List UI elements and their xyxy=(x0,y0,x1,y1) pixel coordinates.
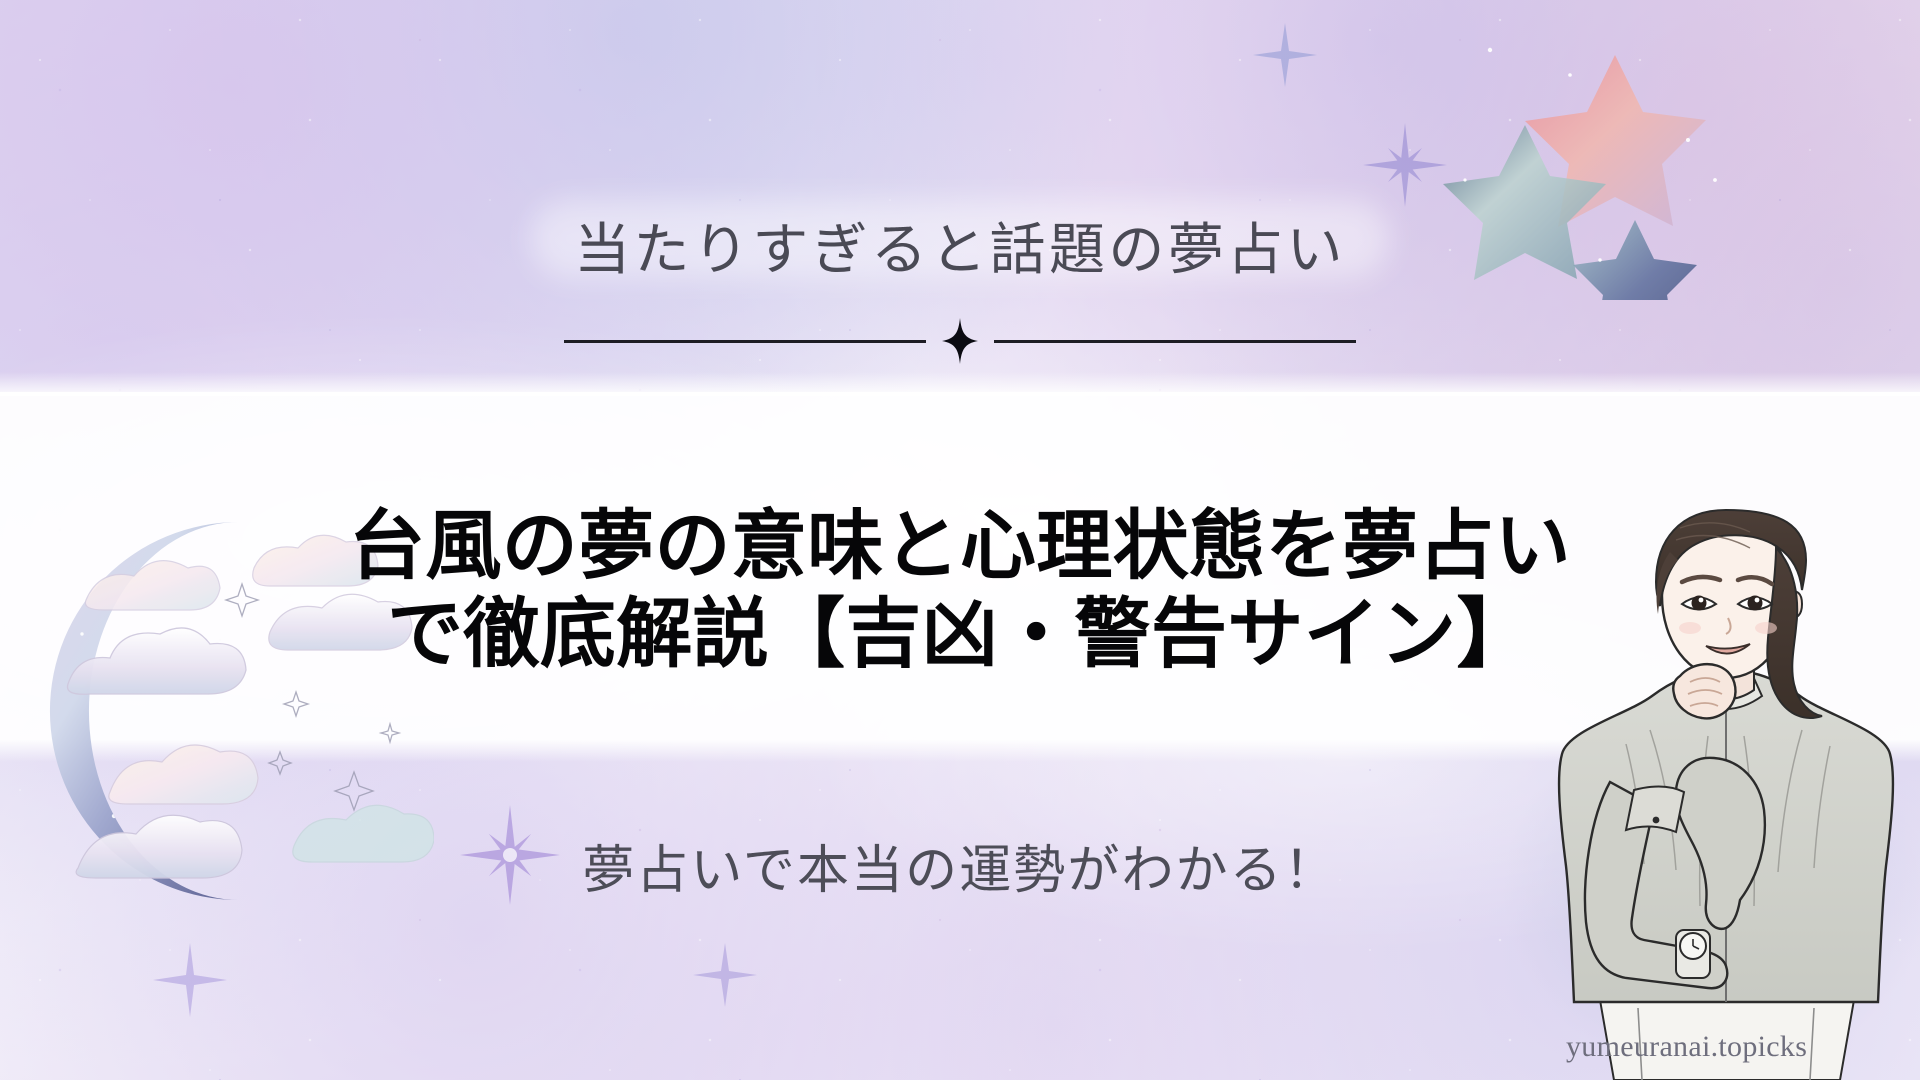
thumbnail-canvas: 当たりすぎると話題の夢占い 台風の夢の意味と心理状態を夢占い で徹底解説【吉凶・… xyxy=(0,0,1920,1080)
divider-rule-right xyxy=(994,340,1356,343)
woman-thinking-illustration xyxy=(1530,500,1920,1080)
divider-rule-left xyxy=(564,340,926,343)
divider xyxy=(0,318,1920,364)
site-watermark: yumeuranai.topicks xyxy=(1566,1030,1807,1064)
four-point-sparkle-icon xyxy=(942,318,978,364)
kicker-text: 当たりすぎると話題の夢占い xyxy=(0,205,1920,286)
page-title-line-1: 台風の夢の意味と心理状態を夢占い xyxy=(349,504,1571,589)
